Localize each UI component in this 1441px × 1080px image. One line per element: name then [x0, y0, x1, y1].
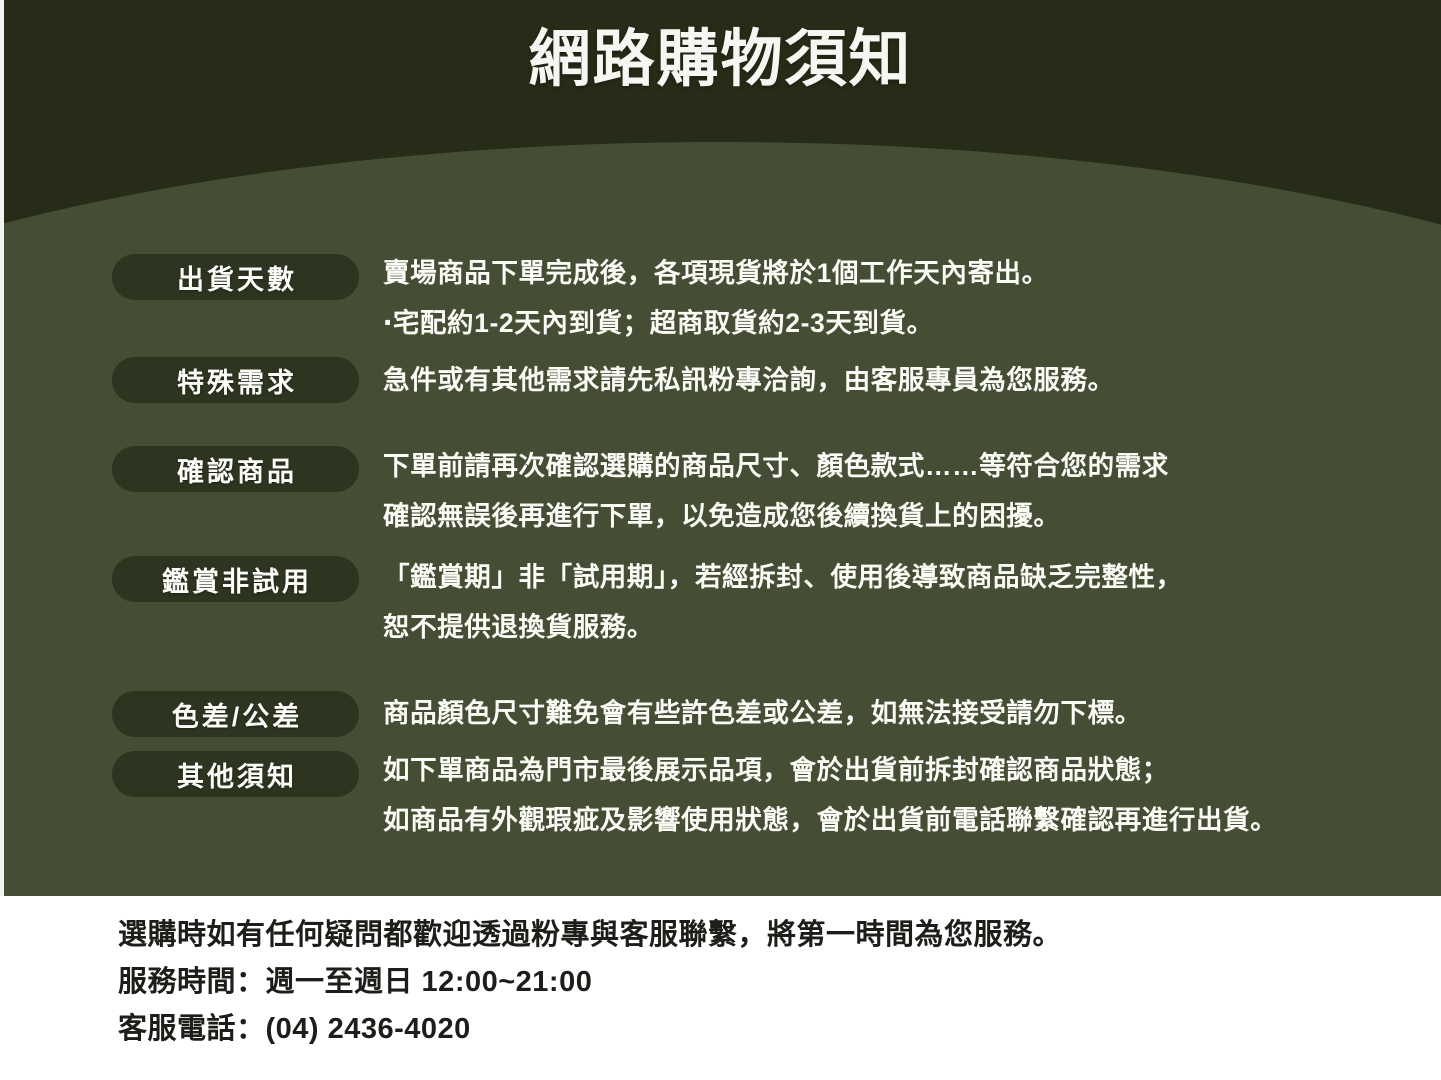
body-line: 商品顏色尺寸難免會有些許色差或公差，如無法接受請勿下標。 — [383, 688, 1423, 738]
section-label-pill[interactable]: 鑑賞非試用 — [112, 556, 359, 602]
sections-list: 出貨天數 賣場商品下單完成後，各項現貨將於1個工作天內寄出。 ‧宅配約1-2天內… — [0, 0, 1441, 896]
footer-text-block: 選購時如有任何疑問都歡迎透過粉專與客服聯繫，將第一時間為您服務。 服務時間：週一… — [118, 912, 1062, 1053]
body-line: 「鑑賞期」非「試用期」，若經拆封、使用後導致商品缺乏完整性， — [383, 552, 1423, 602]
section-body: 下單前請再次確認選購的商品尺寸、顏色款式……等符合您的需求 確認無誤後再進行下單… — [383, 441, 1423, 541]
body-line: 急件或有其他需求請先私訊粉專洽詢，由客服專員為您服務。 — [383, 355, 1423, 405]
section-label-pill[interactable]: 出貨天數 — [112, 254, 359, 300]
section-body: 如下單商品為門市最後展示品項，會於出貨前拆封確認商品狀態； 如商品有外觀瑕疵及影… — [383, 745, 1423, 845]
section-body: 商品顏色尺寸難免會有些許色差或公差，如無法接受請勿下標。 — [383, 688, 1423, 738]
body-line: ‧宅配約1-2天內到貨；超商取貨約2-3天到貨。 — [383, 298, 1423, 348]
left-edge-strip — [0, 0, 4, 896]
section-body: 「鑑賞期」非「試用期」，若經拆封、使用後導致商品缺乏完整性， 恕不提供退換貨服務… — [383, 552, 1423, 652]
section-body: 賣場商品下單完成後，各項現貨將於1個工作天內寄出。 ‧宅配約1-2天內到貨；超商… — [383, 248, 1423, 348]
body-line: 確認無誤後再進行下單，以免造成您後續換貨上的困擾。 — [383, 491, 1423, 541]
footer-line-support: 選購時如有任何疑問都歡迎透過粉專與客服聯繫，將第一時間為您服務。 — [118, 912, 1062, 959]
section-label-pill[interactable]: 色差/公差 — [112, 691, 359, 737]
notice-banner: 網路購物須知 出貨天數 賣場商品下單完成後，各項現貨將於1個工作天內寄出。 ‧宅… — [0, 0, 1441, 1080]
contact-footer: 選購時如有任何疑問都歡迎透過粉專與客服聯繫，將第一時間為您服務。 服務時間：週一… — [0, 896, 1441, 1080]
body-line: 如商品有外觀瑕疵及影響使用狀態，會於出貨前電話聯繫確認再進行出貨。 — [383, 795, 1423, 845]
section-label-pill[interactable]: 確認商品 — [112, 446, 359, 492]
body-line: 下單前請再次確認選購的商品尺寸、顏色款式……等符合您的需求 — [383, 441, 1423, 491]
footer-line-phone: 客服電話：(04) 2436-4020 — [118, 1006, 1062, 1053]
section-body: 急件或有其他需求請先私訊粉專洽詢，由客服專員為您服務。 — [383, 355, 1423, 405]
body-line: 賣場商品下單完成後，各項現貨將於1個工作天內寄出。 — [383, 248, 1423, 298]
section-label-pill[interactable]: 特殊需求 — [112, 357, 359, 403]
footer-line-hours: 服務時間：週一至週日 12:00~21:00 — [118, 959, 1062, 1006]
body-line: 如下單商品為門市最後展示品項，會於出貨前拆封確認商品狀態； — [383, 745, 1423, 795]
body-line: 恕不提供退換貨服務。 — [383, 602, 1423, 652]
section-label-pill[interactable]: 其他須知 — [112, 751, 359, 797]
page-title: 網路購物須知 — [0, 24, 1441, 95]
